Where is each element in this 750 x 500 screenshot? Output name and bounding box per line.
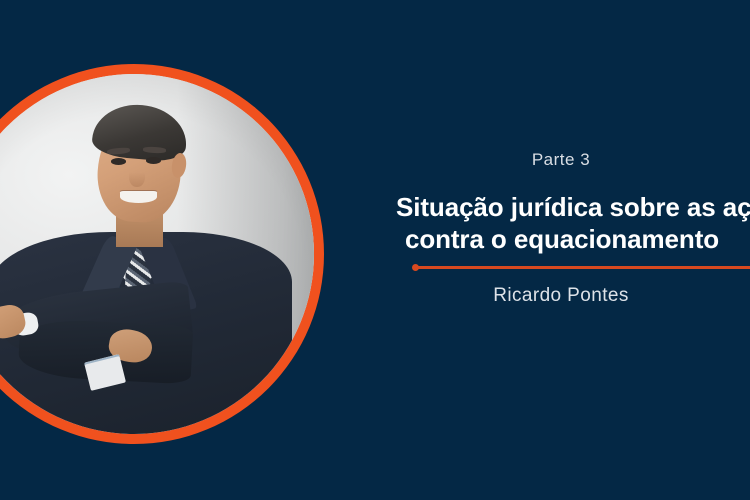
slide-part-label: Parte 3 — [372, 150, 750, 170]
slide-title-line-2: contra o equacionamento — [370, 224, 750, 256]
presentation-slide: Parte 3 Situação jurídica sobre as açõ c… — [0, 0, 750, 500]
photo-vignette — [0, 74, 314, 434]
portrait-ring — [0, 64, 324, 444]
slide-title: Situação jurídica sobre as açõ contra o … — [370, 192, 750, 255]
slide-text-block: Parte 3 Situação jurídica sobre as açõ c… — [372, 0, 750, 500]
speaker-photo — [0, 74, 314, 434]
slide-title-line-1: Situação jurídica sobre as açõ — [396, 192, 750, 224]
speaker-name: Ricardo Pontes — [372, 285, 750, 307]
divider-line — [415, 266, 750, 269]
